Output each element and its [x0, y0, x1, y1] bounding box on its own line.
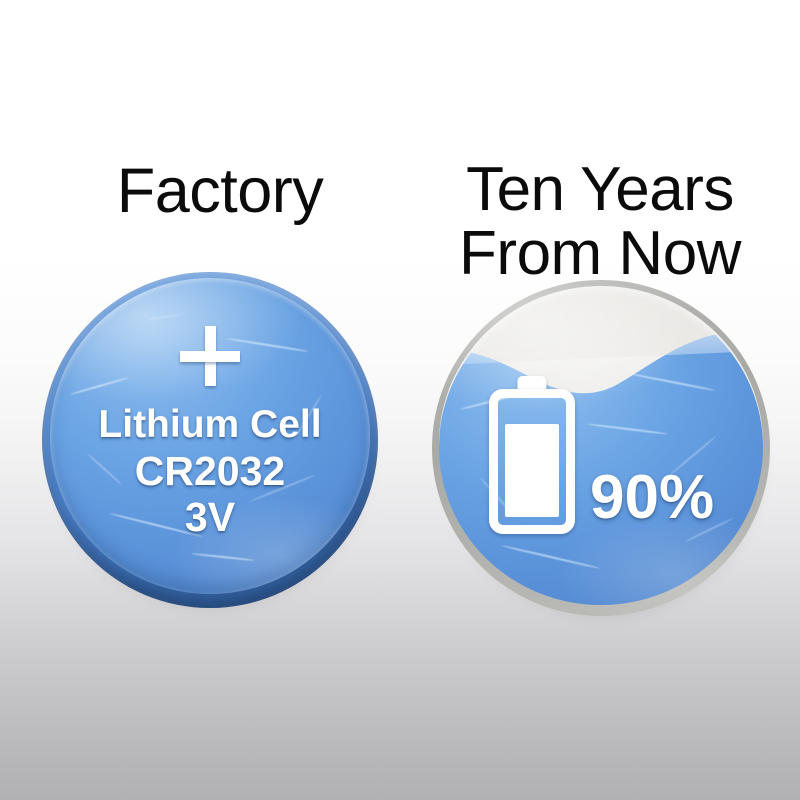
foil-scratch: [480, 478, 513, 514]
coin-sheen-left: [50, 278, 370, 594]
coin-label-face-left: [50, 278, 370, 594]
foil-scratch: [668, 435, 716, 476]
foil-scratch: [501, 544, 600, 569]
foil-scratch: [70, 377, 129, 396]
battery-cell-factory[interactable]: Lithium Cell CR2032 3V: [42, 272, 378, 608]
foil-scratch: [460, 394, 520, 411]
scene-canvas: Factory Lithium Cell CR2032 3V: [0, 0, 800, 800]
foil-scratch: [87, 453, 121, 484]
coin-scratch-layer: [432, 280, 770, 616]
panel-heading-future: Ten Years From Now: [400, 158, 800, 286]
foil-scratch: [588, 423, 669, 435]
foil-scratch: [684, 517, 733, 543]
foil-scratch: [226, 338, 309, 353]
battery-cell-aged[interactable]: 90%: [432, 280, 770, 616]
foil-scratch: [191, 553, 255, 562]
panel-heading-factory: Factory: [20, 160, 420, 223]
foil-scratch: [251, 473, 317, 501]
foil-scratch: [292, 394, 323, 441]
foil-scratch: [146, 313, 184, 320]
foil-scratch: [629, 372, 716, 391]
foil-scratch: [109, 513, 203, 538]
